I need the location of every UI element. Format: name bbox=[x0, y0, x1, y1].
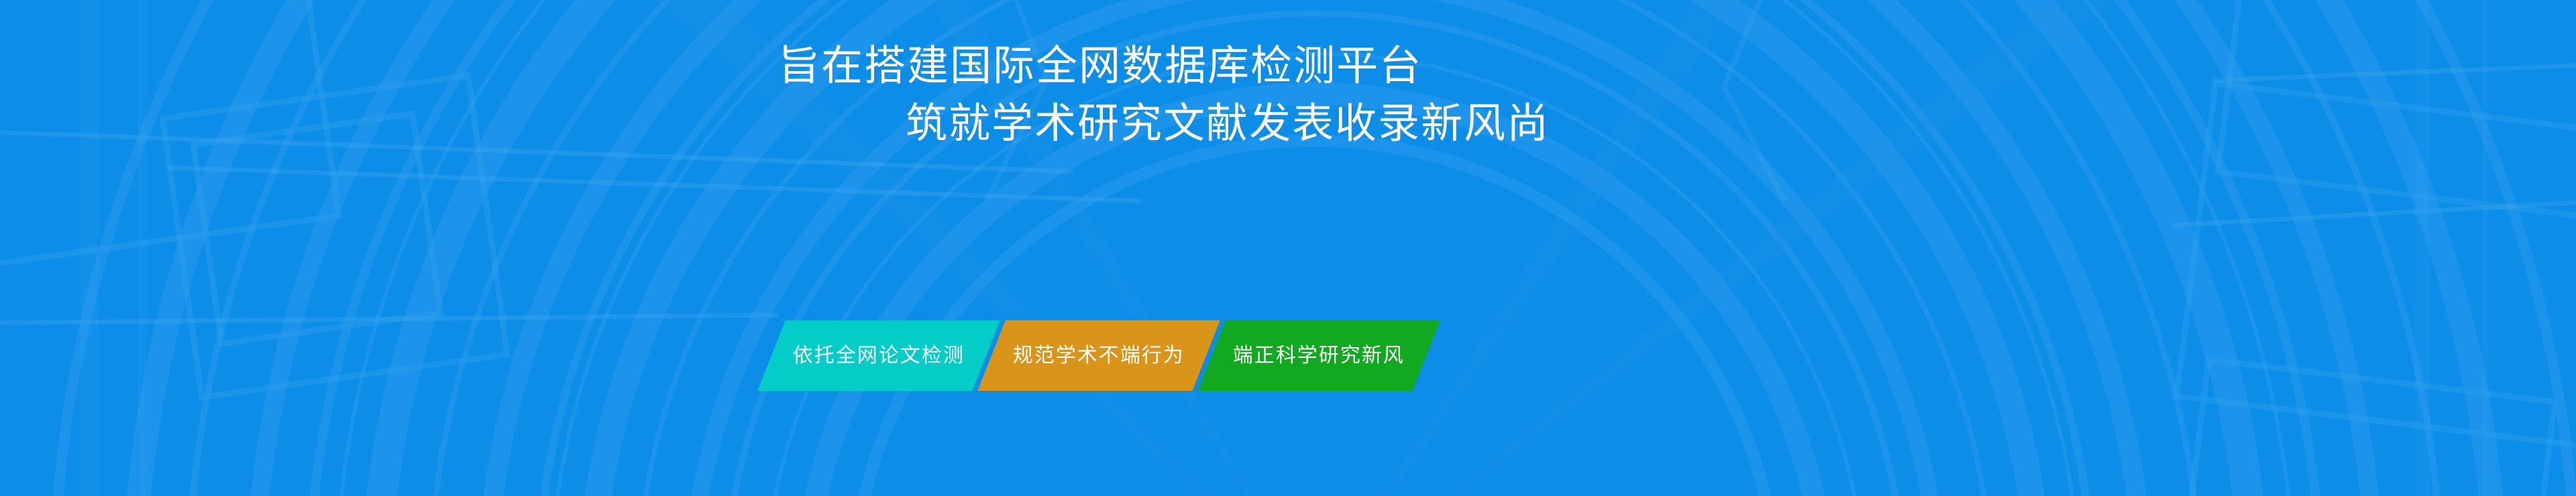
feature-tag-label: 规范学术不端行为 bbox=[1013, 346, 1185, 366]
headline-line-2: 筑就学术研究文献发表收录新风尚 bbox=[0, 95, 2576, 153]
feature-tag-label: 端正科学研究新风 bbox=[1233, 346, 1405, 366]
feature-tag-research-integrity[interactable]: 端正科学研究新风 bbox=[1197, 320, 1440, 391]
headline-block: 旨在搭建国际全网数据库检测平台 筑就学术研究文献发表收录新风尚 bbox=[0, 38, 2576, 153]
headline-line-1: 旨在搭建国际全网数据库检测平台 bbox=[0, 38, 2576, 95]
feature-tag-misconduct-regulation[interactable]: 规范学术不端行为 bbox=[977, 320, 1220, 391]
promo-banner: 旨在搭建国际全网数据库检测平台 筑就学术研究文献发表收录新风尚 依托全网论文检测… bbox=[0, 0, 2576, 496]
feature-tag-plagiarism-check[interactable]: 依托全网论文检测 bbox=[757, 320, 1000, 391]
feature-tag-label: 依托全网论文检测 bbox=[793, 346, 965, 366]
feature-tag-strip: 依托全网论文检测 规范学术不端行为 端正科学研究新风 bbox=[771, 320, 1426, 391]
